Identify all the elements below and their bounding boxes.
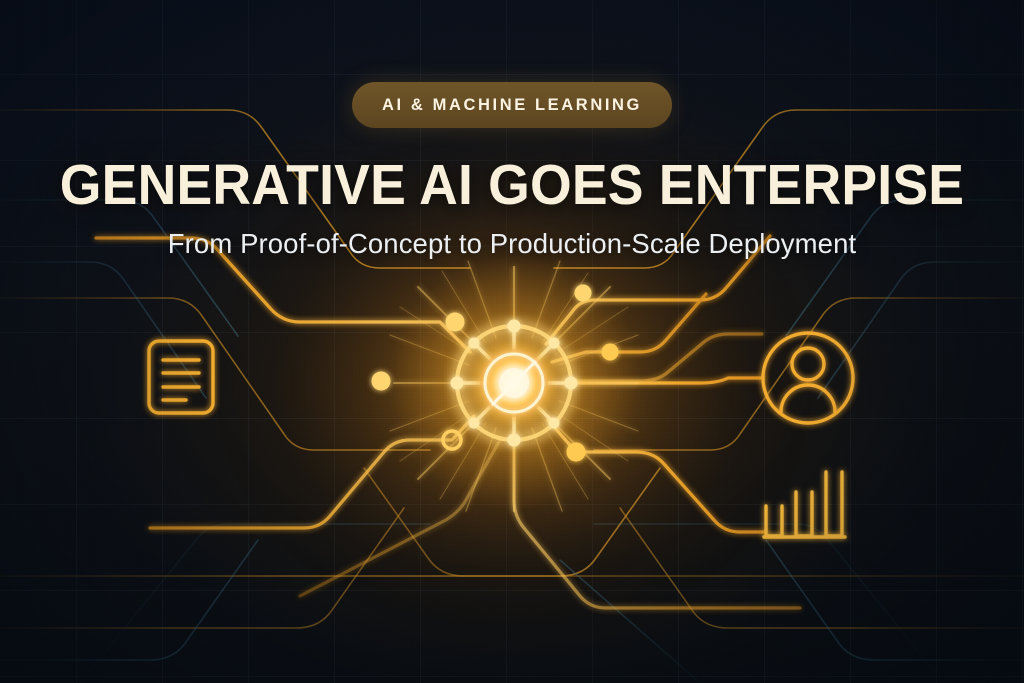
node-lower-right <box>567 443 586 462</box>
user-icon <box>763 333 853 423</box>
hero-banner: AI & MACHINE LEARNING GENERATIVE AI GOES… <box>0 0 1024 683</box>
node-left-mid <box>372 372 391 391</box>
category-badge: AI & MACHINE LEARNING <box>352 82 672 128</box>
node-right-upper <box>602 344 619 361</box>
page-title: GENERATIVE AI GOES ENTERPISE <box>31 152 994 218</box>
category-badge-label: AI & MACHINE LEARNING <box>382 96 642 115</box>
node-upper-left <box>446 313 465 332</box>
page-subtitle: From Proof-of-Concept to Production-Scal… <box>0 228 1024 260</box>
bar-chart-icon <box>764 472 845 537</box>
central-ai-hub <box>386 255 642 511</box>
document-icon <box>149 341 213 413</box>
node-upper-right <box>575 285 592 302</box>
